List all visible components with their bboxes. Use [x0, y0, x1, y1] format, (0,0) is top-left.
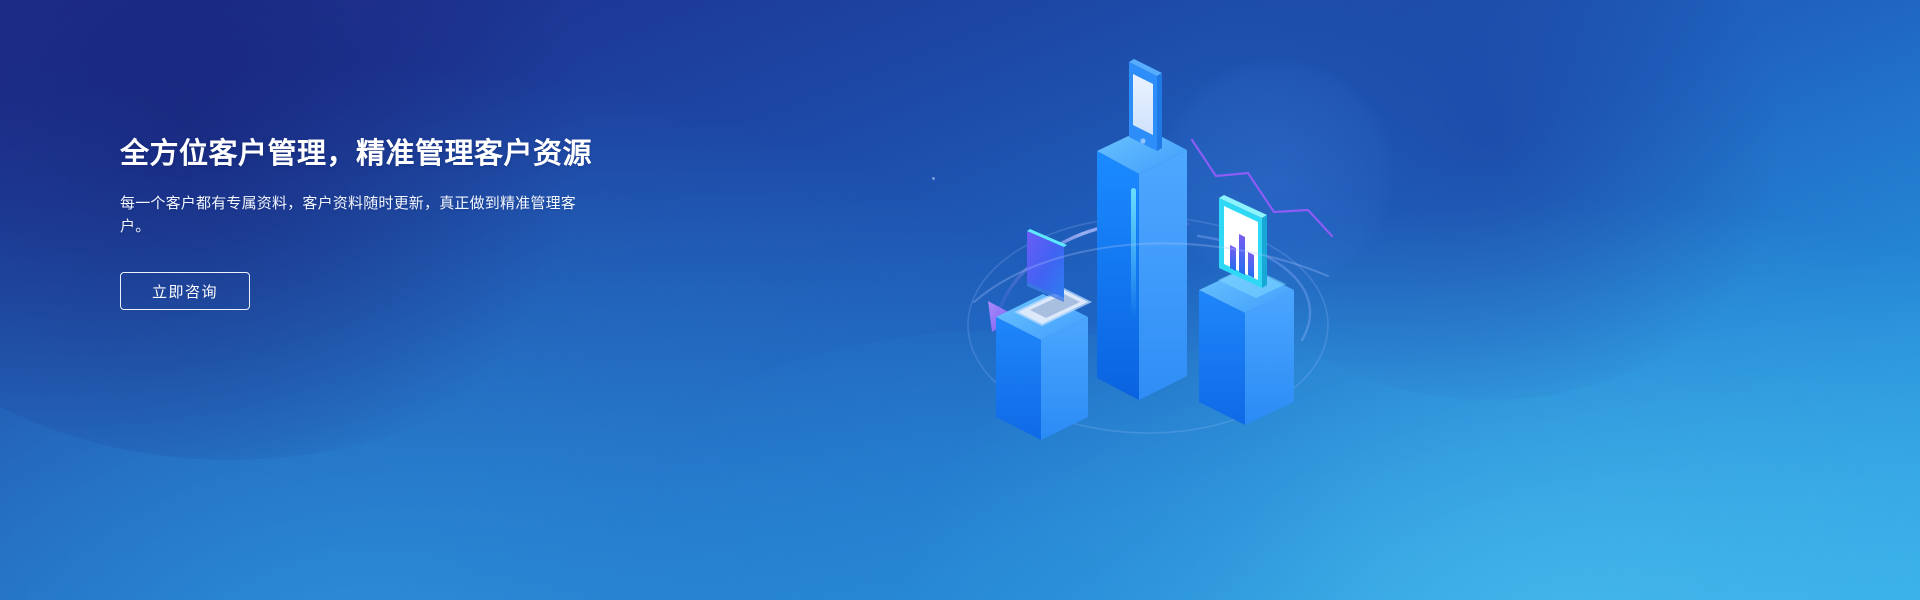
pedestal-center	[1097, 128, 1187, 400]
banner-subcopy: 每一个客户都有专属资料，客户资料随时更新，真正做到精准管理客户。	[120, 192, 604, 238]
banner-copy-block: 全方位客户管理，精准管理客户资源 每一个客户都有专属资料，客户资料随时更新，真正…	[120, 134, 740, 310]
bar-chart-monitor	[1218, 195, 1286, 298]
consult-now-button[interactable]: 立即咨询	[120, 272, 250, 310]
banner-headline: 全方位客户管理，精准管理客户资源	[120, 134, 740, 174]
hero-illustration	[930, 40, 1380, 460]
tablet-device	[1129, 59, 1162, 151]
laptop-device	[1014, 229, 1092, 326]
hero-banner: 全方位客户管理，精准管理客户资源 每一个客户都有专属资料，客户资料随时更新，真正…	[0, 0, 1920, 600]
